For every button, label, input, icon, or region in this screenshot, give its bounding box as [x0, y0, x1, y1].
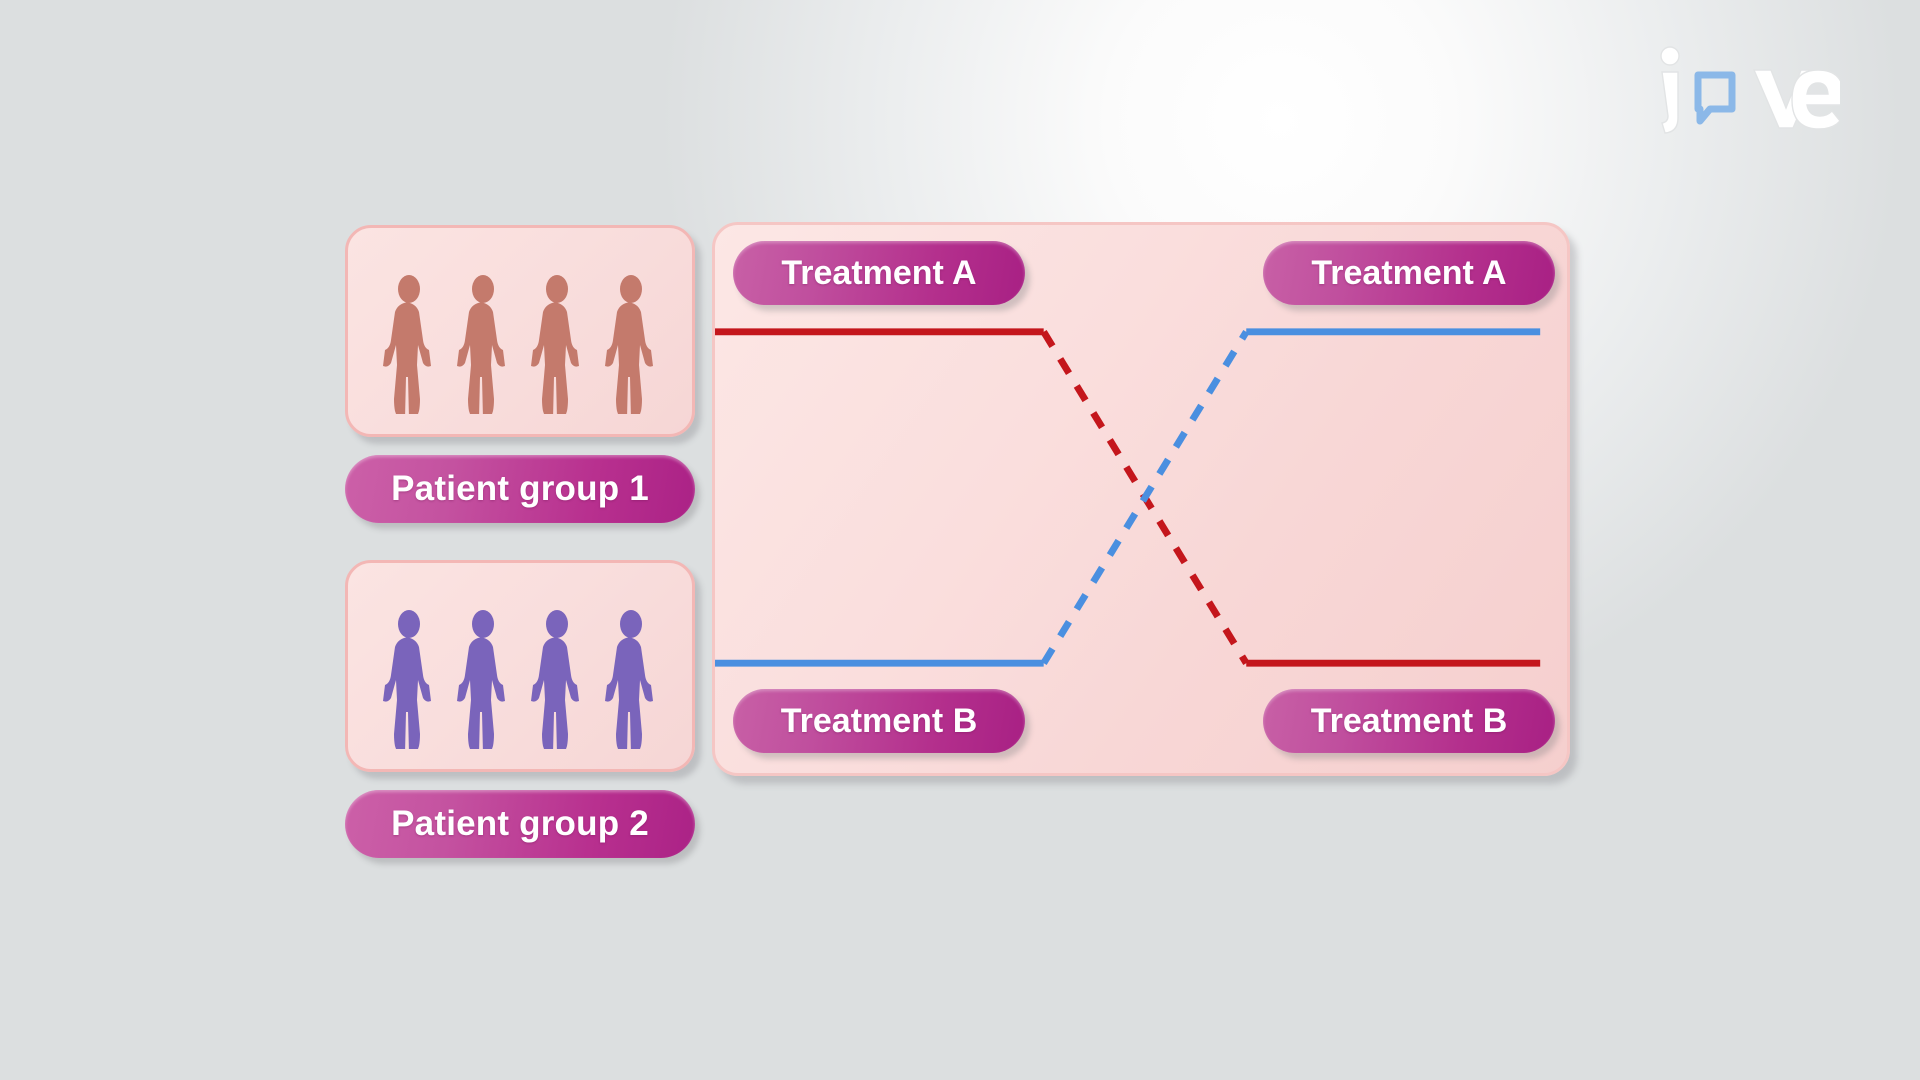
- treatment-b-period-2-text: Treatment B: [1311, 702, 1508, 741]
- patient-group-1-label: Patient group 1: [345, 455, 695, 523]
- patient-figure-icon: [455, 609, 511, 749]
- crossover-design-panel: Treatment A Treatment A Treatment B Trea…: [712, 222, 1570, 776]
- patient-figures-group-1: [348, 254, 692, 414]
- patient-figure-icon: [455, 274, 511, 414]
- treatment-a-period-2-label: Treatment A: [1263, 241, 1555, 305]
- patient-figure-icon: [603, 609, 659, 749]
- treatment-b-period-1-label: Treatment B: [733, 689, 1025, 753]
- patient-figure-icon: [529, 274, 585, 414]
- jove-logo: [1650, 42, 1840, 134]
- treatment-b-period-2-label: Treatment B: [1263, 689, 1555, 753]
- patient-group-1-label-text: Patient group 1: [391, 469, 649, 509]
- treatment-b-period-1-text: Treatment B: [781, 702, 978, 741]
- patient-group-2-card: [345, 560, 695, 772]
- treatment-a-period-2-text: Treatment A: [1311, 254, 1506, 293]
- patient-figure-icon: [529, 609, 585, 749]
- jove-logo-icon: [1650, 42, 1840, 134]
- patient-group-2-label: Patient group 2: [345, 790, 695, 858]
- patient-group-2-label-text: Patient group 2: [391, 804, 649, 844]
- diagram-canvas: Patient group 1 Patient group 2 Treatmen…: [0, 0, 1920, 1080]
- patient-figures-group-2: [348, 589, 692, 749]
- patient-figure-icon: [381, 274, 437, 414]
- treatment-a-period-1-text: Treatment A: [781, 254, 976, 293]
- patient-figure-icon: [381, 609, 437, 749]
- treatment-a-period-1-label: Treatment A: [733, 241, 1025, 305]
- patient-figure-icon: [603, 274, 659, 414]
- patient-group-1-card: [345, 225, 695, 437]
